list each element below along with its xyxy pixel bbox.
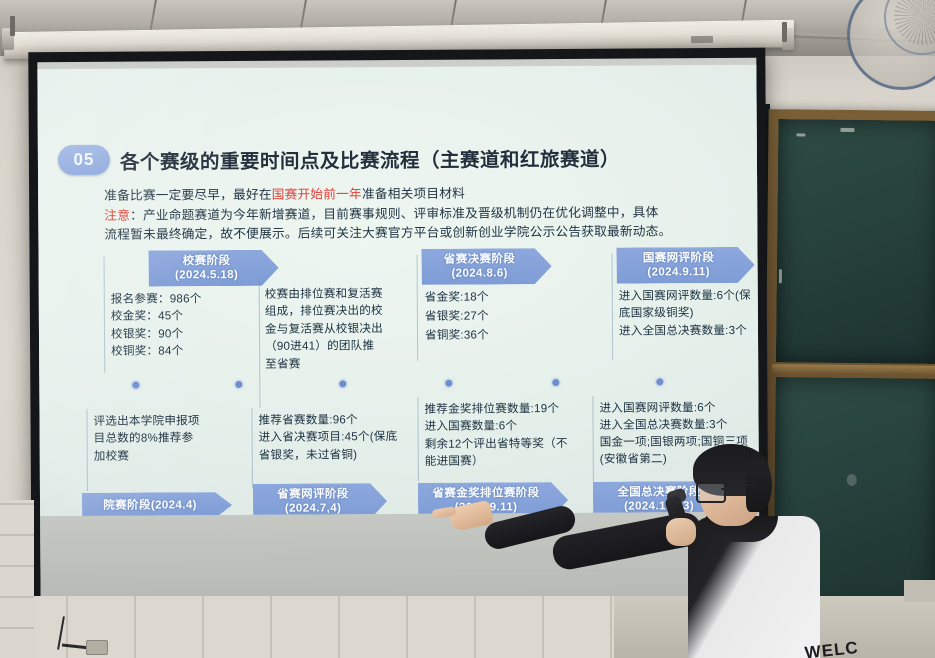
- stage-info-top-1-left: 报名参赛：986个 校金奖：45个 校银奖：90个 校铜奖：84个: [111, 290, 203, 360]
- notice-label: 注意: [104, 208, 130, 222]
- stage-info-top-2: 省金奖:18个 省银奖:27个 省铜奖:36个: [425, 288, 533, 345]
- stage-info-bottom-3: 推荐金奖排位赛数量:19个 进入国赛数量:6个 剩余12个评出省特等奖（不能进国…: [424, 400, 574, 470]
- stage-chevron-bottom-1[interactable]: 院赛阶段(2024.4): [82, 492, 232, 516]
- timeline-dot-2: [235, 381, 242, 388]
- stage-name-bottom-1: 院赛阶段(2024.4): [103, 498, 197, 513]
- stage-info-bottom-2: 推荐省赛数量:96个 进入省决赛项目:45个(保底省银奖，未过省铜): [258, 411, 406, 464]
- stage-info-bottom-4: 进入国赛网评数量:6个 进入全国总决赛数量:3个: [599, 399, 749, 435]
- presenter-hand-holding-mic: [666, 518, 696, 546]
- stage-name-top-3: 国赛网评阶段: [643, 251, 714, 266]
- stage-name-bottom-3: 省赛金奖排位赛阶段: [432, 486, 539, 501]
- timeline-dot-5: [552, 379, 559, 386]
- timeline-dot-3: [339, 380, 346, 387]
- lead-line1-highlight: 国赛开始前一年: [272, 187, 362, 202]
- section-number-badge: 05: [58, 145, 110, 175]
- lead-line-3: 流程暂未最终确定，故不便展示。后续可关注大赛官方平台或创新创业学院公示公告获取最…: [104, 222, 714, 245]
- stage-date-top-1: (2024.5.18): [175, 268, 238, 283]
- blackboard-chalk-ledge: [772, 364, 935, 375]
- stage-name-top-1: 校赛阶段: [183, 254, 231, 269]
- roller-bracket-left: [10, 16, 15, 36]
- stage-info-bottom-1: 评选出本学院申报项目总数的8%推荐参加校赛: [93, 412, 201, 465]
- slide-title-row: 05 各个赛级的重要时间点及比赛流程（主赛道和红旅赛道）: [58, 142, 620, 175]
- tiled-wall-left: [0, 500, 34, 658]
- lead-line1-pre: 准备比赛一定要尽早，最好在: [104, 188, 272, 203]
- stage-name-top-2: 省赛决赛阶段: [444, 252, 515, 267]
- timeline-dot-1: [132, 382, 139, 389]
- stage-date-top-2: (2024.8.6): [451, 266, 508, 281]
- classroom-photo: 05 各个赛级的重要时间点及比赛流程（主赛道和红旅赛道） 准备比赛一定要尽早，最…: [0, 0, 935, 658]
- slide-lead-paragraph: 准备比赛一定要尽早，最好在国赛开始前一年准备相关项目材料 注意：产业命题赛道为今…: [104, 183, 714, 246]
- stage-name-bottom-2: 省赛网评阶段: [277, 487, 348, 502]
- stage-chevron-top-2[interactable]: 省赛决赛阶段 (2024.8.6): [421, 248, 551, 285]
- page-title: 各个赛级的重要时间点及比赛流程（主赛道和红旅赛道）: [120, 142, 620, 174]
- roller-brand-badge: [691, 36, 713, 43]
- glasses-bridge: [721, 488, 730, 490]
- blackboard-panel-top: [776, 119, 935, 364]
- stage-chevron-top-3[interactable]: 国赛网评阶段 (2024.9.11): [616, 247, 754, 284]
- presenter: WELC ME: [636, 438, 935, 658]
- timeline-dot-4: [445, 380, 452, 387]
- stage-info-top-1-right: 校赛由排位赛和复活赛组成，排位赛决出的校金与复活赛从校银决出（90进41）的团队…: [265, 285, 384, 373]
- stage-date-top-3: (2024.9.11): [647, 265, 710, 280]
- roller-bracket-right: [782, 22, 787, 42]
- shirt-text: WELC ME: [804, 635, 875, 658]
- timeline-dot-6: [656, 378, 663, 385]
- lead-line1-post: 准备相关项目材料: [362, 187, 465, 202]
- wall-socket: [86, 640, 108, 655]
- lead-line2-text: ：产业命题赛道为今年新增赛道，目前赛事规则、评审标准及晋级机制仍在优化调整中，具…: [130, 205, 658, 222]
- glasses-icon: [696, 482, 726, 503]
- stage-info-top-3: 进入国赛网评数量:6个(保底国家级铜奖) 进入全国总决赛数量:3个: [619, 287, 753, 340]
- stage-chevron-bottom-2[interactable]: 省赛网评阶段 (2024.7,4): [253, 483, 387, 516]
